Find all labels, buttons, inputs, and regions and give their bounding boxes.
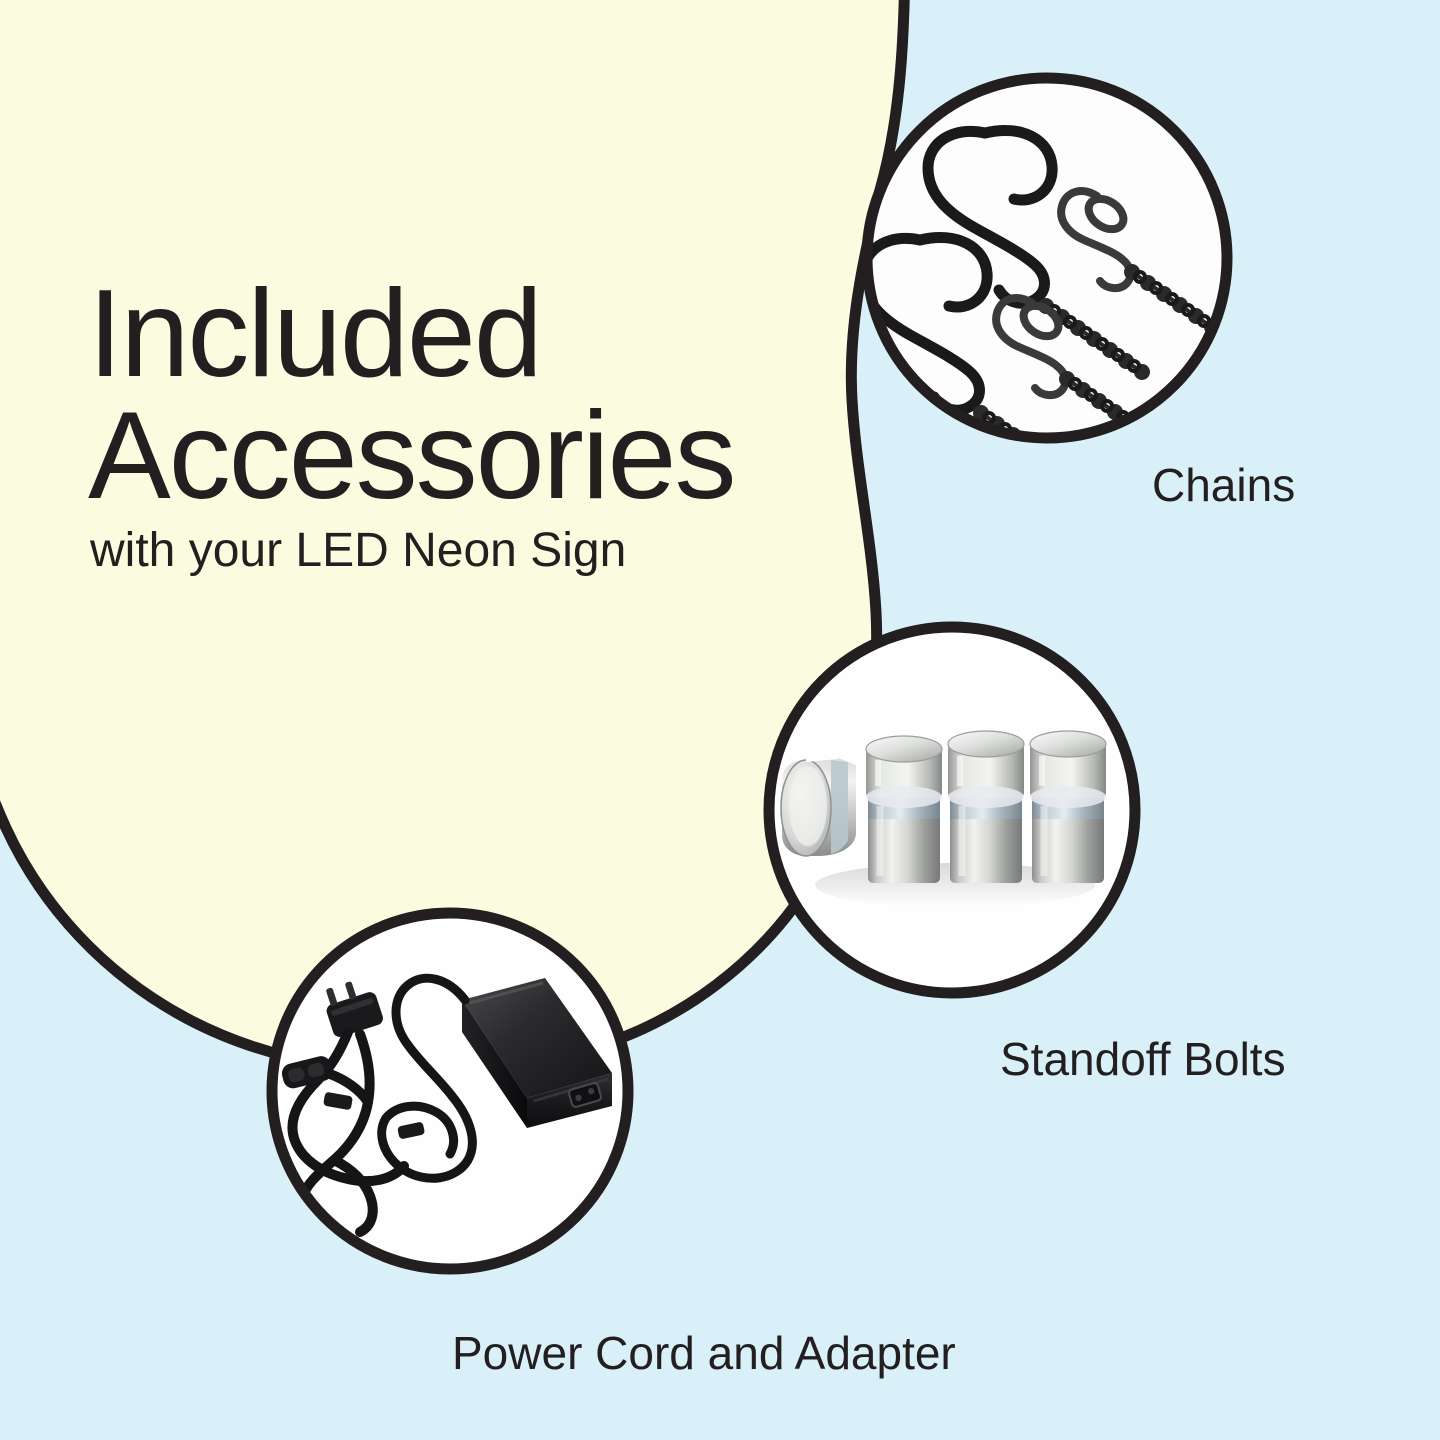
bolt-upright-3: [1030, 731, 1106, 883]
bolt-upright-2: [948, 731, 1024, 883]
page-subtitle: with your LED Neon Sign: [90, 527, 626, 575]
callout-label-standoff-bolts: Standoff Bolts: [1000, 1036, 1286, 1082]
page-title-line-2: Accessories: [88, 394, 734, 518]
accessories-illustration: [0, 0, 1440, 1440]
bolt-upright-1: [866, 736, 942, 883]
callout-label-chains: Chains: [1152, 462, 1295, 508]
callout-standoff-bolts[interactable]: [769, 627, 1135, 993]
page-title-line-1: Included: [88, 272, 541, 396]
callout-power-cord[interactable]: [272, 913, 628, 1269]
bolt-lying: [781, 757, 856, 856]
callout-label-power-cord: Power Cord and Adapter: [452, 1330, 956, 1376]
infographic-canvas: Included Accessories with your LED Neon …: [0, 0, 1440, 1440]
